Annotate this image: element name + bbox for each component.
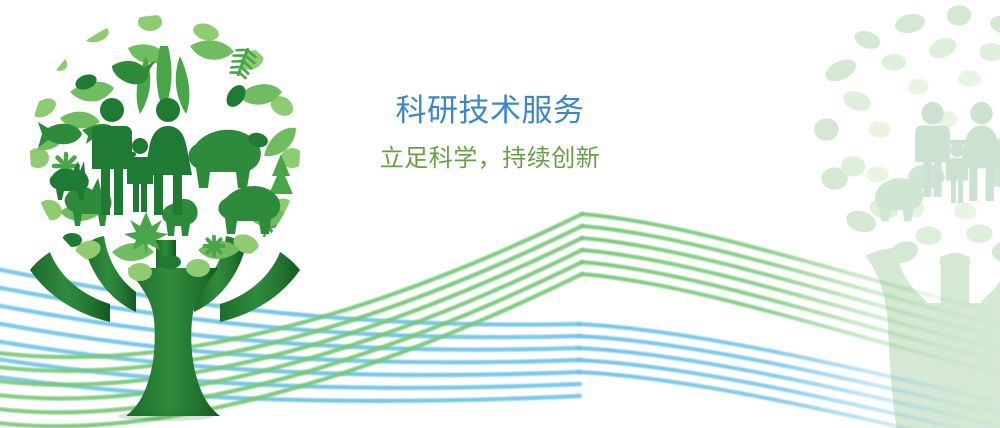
page-title: 科研技术服务 [360, 92, 620, 130]
family-silhouette [92, 98, 192, 215]
tree-left-illustration [0, 0, 1000, 428]
page-subtitle: 立足科学，持续创新 [360, 144, 620, 174]
banner-root: 科研技术服务 立足科学，持续创新 [0, 0, 1000, 428]
headline-block: 科研技术服务 立足科学，持续创新 [360, 92, 620, 174]
